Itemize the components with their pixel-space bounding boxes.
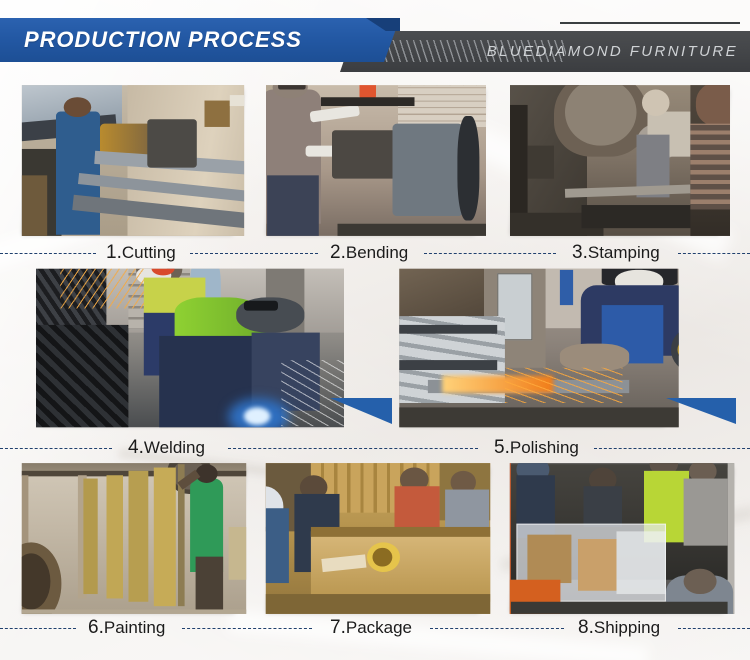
step-label-bending: 2.Bending [330,241,408,265]
dash-line [424,253,556,254]
step-number: 2. [330,242,346,263]
step-label-welding: 4.Welding [128,436,205,460]
dash-line [228,448,478,449]
step-name: Bending [346,243,408,262]
step-number: 5. [494,437,510,458]
step-name: Package [346,618,412,637]
dash-line [594,448,750,449]
step-name: Painting [104,618,165,637]
step-name: Stamping [588,243,660,262]
step-name: Shipping [594,618,660,637]
step-label-shipping: 8.Shipping [578,616,660,640]
divider-row-3: 6.Painting 7.Package 8.Shipping [0,618,750,640]
photo-bending [266,85,486,236]
step-name: Cutting [122,243,176,262]
photo-shipping [510,463,734,614]
photo-painting [22,463,246,614]
step-label-package: 7.Package [330,616,412,640]
page-header: BLUEDIAMOND FURNITURE PRODUCTION PROCESS [0,0,750,72]
step-label-cutting: 1.Cutting [106,241,176,265]
header-gray-bar: BLUEDIAMOND FURNITURE [340,31,750,72]
step-number: 6. [88,617,104,638]
step-number: 1. [106,242,122,263]
dash-line [0,448,112,449]
step-name: Welding [144,438,205,457]
photo-welding [36,269,344,427]
process-photo-shipping[interactable] [511,466,734,611]
page-background: BLUEDIAMOND FURNITURE PRODUCTION PROCESS [0,0,750,660]
photo-package [266,463,490,614]
process-photo-polishing[interactable] [402,272,675,424]
dash-line [182,628,312,629]
step-label-painting: 6.Painting [88,616,165,640]
dash-line [678,253,750,254]
dash-line [0,253,96,254]
header-top-rule [560,22,740,24]
process-photo-cutting[interactable] [23,88,244,233]
photo-cutting [22,85,244,236]
divider-row-1: 1.Cutting 2.Bending 3.Stamping [0,243,750,265]
step-label-polishing: 5.Polishing [494,436,579,460]
step-number: 4. [128,437,144,458]
photo-stamping [510,85,730,236]
step-name: Polishing [510,438,579,457]
dash-line [190,253,318,254]
dash-line [678,628,750,629]
process-photo-stamping[interactable] [511,88,730,233]
photo-polishing [399,269,678,427]
dash-line [0,628,76,629]
step-label-stamping: 3.Stamping [572,241,660,265]
divider-row-2: 4.Welding 5.Polishing [0,438,750,460]
brand-name: BLUEDIAMOND FURNITURE [487,31,738,72]
process-photo-bending[interactable] [267,88,486,233]
dash-line [430,628,564,629]
process-photo-welding[interactable] [40,272,339,424]
step-number: 3. [572,242,588,263]
step-number: 8. [578,617,594,638]
process-photo-painting[interactable] [23,466,246,611]
process-photo-package[interactable] [267,466,490,611]
step-number: 7. [330,617,346,638]
page-title: PRODUCTION PROCESS [24,18,302,62]
